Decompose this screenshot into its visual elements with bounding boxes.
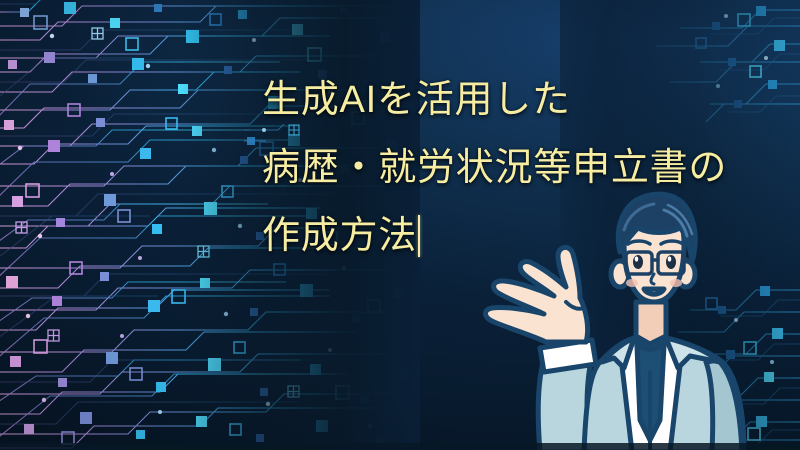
- character-cuff: [540, 340, 596, 372]
- character-cheek-right: [670, 279, 682, 287]
- title-line-1: 生成AIを活用した: [262, 66, 762, 134]
- title-line-3: 作成方法: [262, 215, 417, 257]
- bottom-bar: [0, 443, 800, 450]
- character-eye-right: [666, 255, 676, 269]
- character-mouth: [644, 289, 664, 294]
- character-right-sleeve: [706, 360, 742, 450]
- character-eye-glint-right: [668, 256, 672, 261]
- text-caret: [418, 215, 420, 257]
- slide-canvas: 生成AIを活用した 病歴・就労状況等申立書の 作成方法: [0, 0, 800, 450]
- character-hand: [485, 247, 587, 342]
- businessman-presenter-illustration: [474, 190, 800, 450]
- character-eye-left: [633, 255, 643, 269]
- character-eye-glint-left: [635, 256, 639, 261]
- character-cheek-left: [626, 279, 638, 287]
- character-neck: [636, 302, 666, 344]
